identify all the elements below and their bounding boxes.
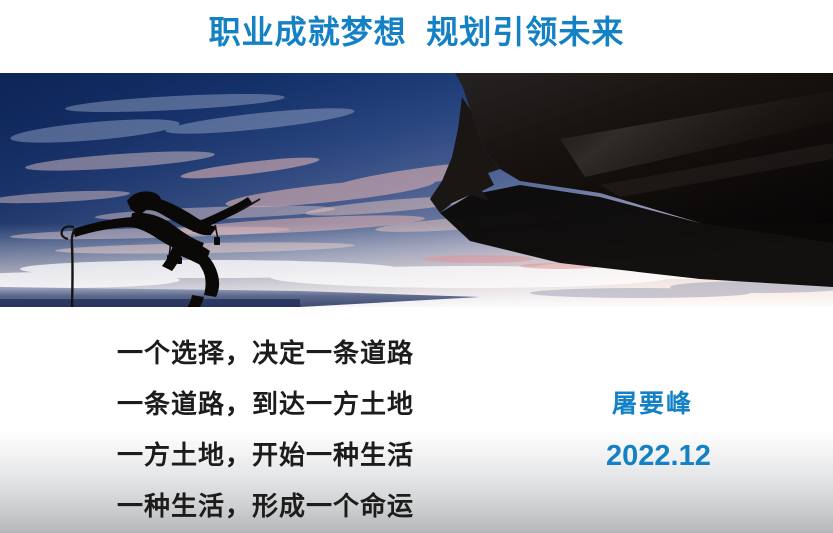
verse-line-1: 一个选择，决定一条道路 [117,328,537,379]
presentation-slide: 职业成就梦想 规划引领未来 [0,0,833,533]
hero-photo [0,73,833,307]
presentation-date: 2022.12 [606,440,711,473]
page-title: 职业成就梦想 规划引领未来 [0,8,833,56]
climber-photo-illustration [0,73,833,307]
verse-line-3: 一方土地，开始一种生活 [117,430,537,481]
verse-line-2: 一条道路，到达一方土地 [117,379,537,430]
verse-block: 一个选择，决定一条道路 一条道路，到达一方土地 一方土地，开始一种生活 一种生活… [117,328,537,532]
author-name: 屠要峰 [612,384,693,420]
verse-line-4: 一种生活，形成一个命运 [117,481,537,532]
